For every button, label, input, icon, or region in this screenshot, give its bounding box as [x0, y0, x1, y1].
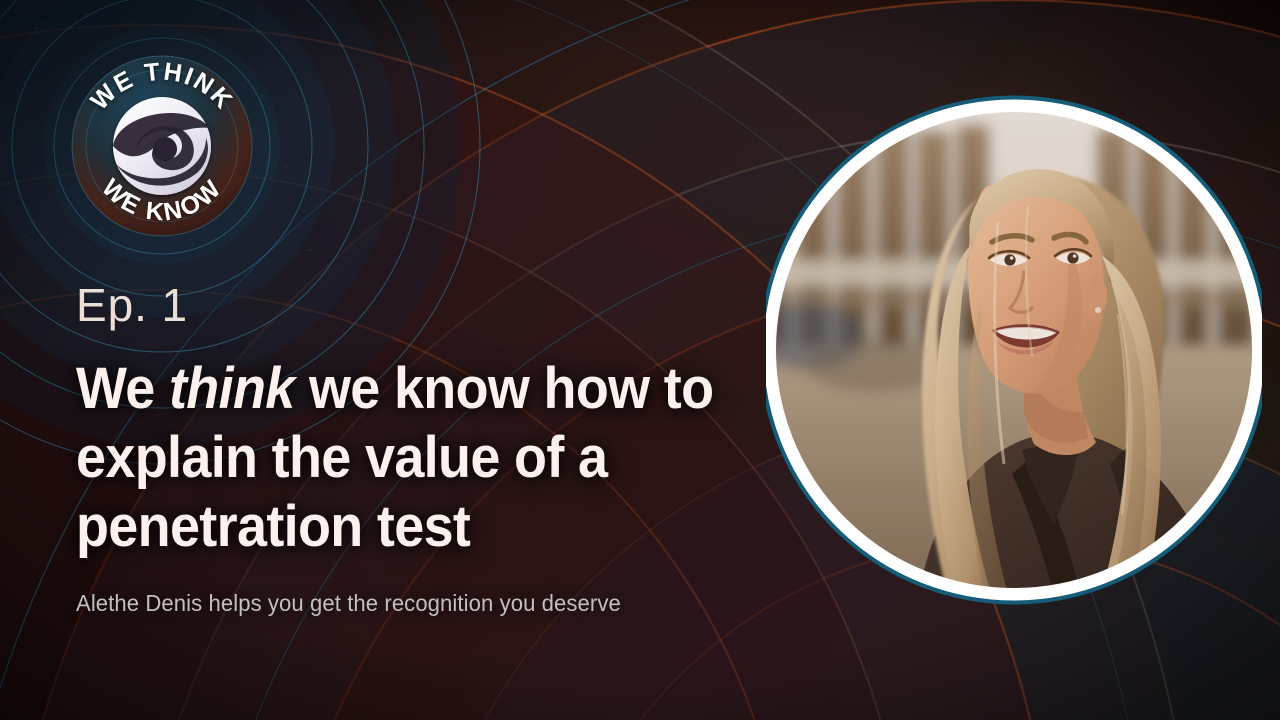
episode-number-label: Ep. 1 [76, 282, 776, 328]
episode-cover-card: WE THINK WE KNOW Ep. 1 We think we know … [0, 0, 1280, 720]
podcast-logo-badge: WE THINK WE KNOW [58, 42, 266, 250]
title-segment-leading: We [76, 356, 169, 421]
swirl-eye-icon [113, 97, 211, 195]
episode-subtitle: Alethe Denis helps you get the recogniti… [76, 589, 748, 619]
episode-text-block: Ep. 1 We think we know how to explain th… [76, 282, 776, 619]
portrait-photo [766, 46, 1262, 654]
episode-title: We think we know how to explain the valu… [76, 354, 829, 561]
title-emphasis-word: think [169, 356, 295, 421]
guest-portrait [766, 46, 1262, 654]
